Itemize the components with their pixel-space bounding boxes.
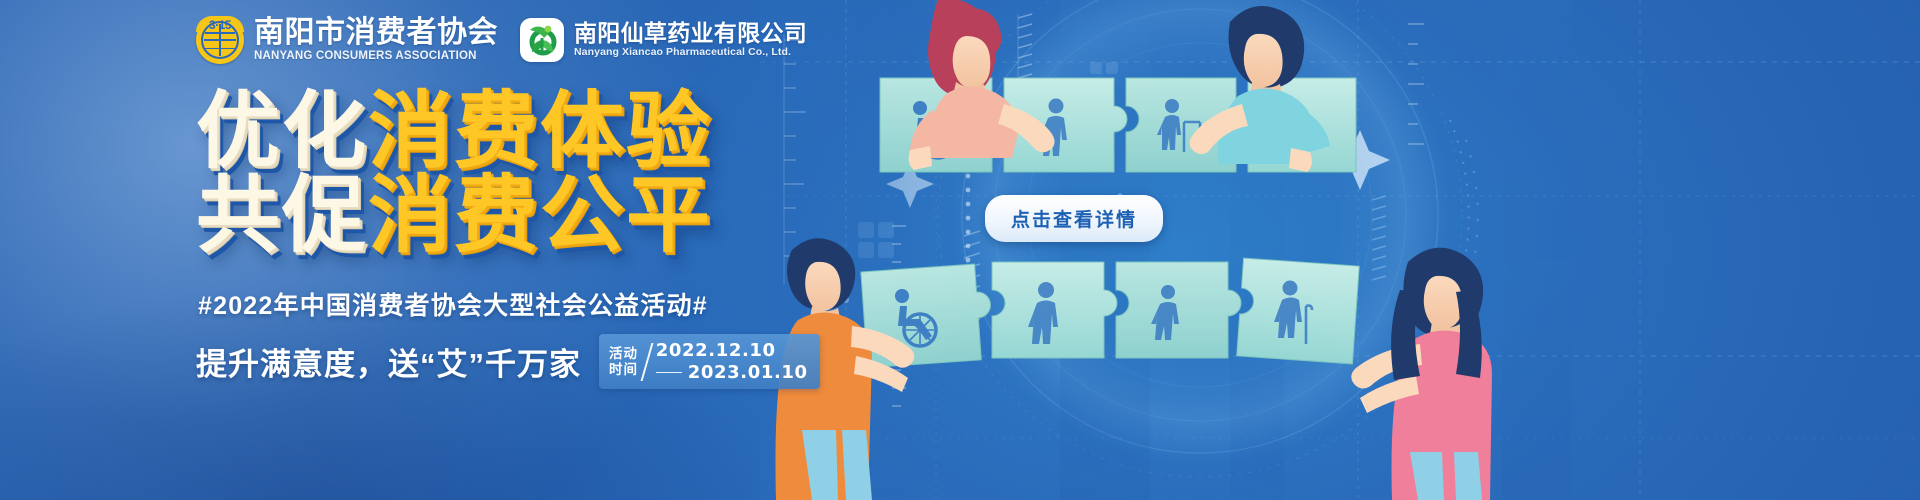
logo-row: 3·15 南阳市消费者协会 NANYANG CONSUMERS ASSOCIAT… [196,16,807,64]
headline-line-1: 优化消费体验 [196,88,712,174]
headline-line2-gold: 消费公平 [368,166,712,264]
date-slash-divider [641,343,654,381]
woman-pink-shirt-bottom-right [1351,248,1492,500]
date-rule [656,372,682,374]
puzzle-illustration-scene [760,0,1920,500]
logo2-cn-name: 南阳仙草药业有限公司 [574,21,807,46]
event-date-label: 活动 时间 [609,346,638,378]
promo-banner: 点击查看详情 3·15 南阳市消费者协会 NANYANG CONSUMERS A… [0,0,1920,500]
xiancao-leaf-logo-icon [520,18,564,62]
left-content-column: 3·15 南阳市消费者协会 NANYANG CONSUMERS ASSOCIAT… [0,0,770,500]
headline-line-2: 共促消费公平 [196,172,712,258]
event-date-block: 活动 时间 2022.12.10 2023.01.10 [599,334,820,389]
view-details-button[interactable]: 点击查看详情 [985,195,1163,242]
logo-en-name: NANYANG CONSUMERS ASSOCIATION [254,49,498,63]
315-globe-logo-icon: 3·15 [196,16,244,64]
bottom-puzzle-row [861,258,1359,368]
event-start-date: 2022.12.10 [656,340,808,361]
event-date-label-line2: 时间 [609,362,638,378]
logo-consumers-association: 3·15 南阳市消费者协会 NANYANG CONSUMERS ASSOCIAT… [196,16,498,64]
campaign-hashtag: #2022年中国消费者协会大型社会公益活动# [198,286,708,322]
event-end-date: 2023.01.10 [688,362,808,383]
logo2-en-name: Nanyang Xiancao Pharmaceutical Co., Ltd. [574,46,807,59]
slogan-and-date-row: 提升满意度，送“艾”千万家 活动 时间 2022.12.10 2023.01.1… [196,334,820,389]
headline-line2-white: 共促 [196,166,368,264]
logo-cn-name: 南阳市消费者协会 [254,17,498,49]
campaign-slogan: 提升满意度，送“艾”千万家 [196,339,581,384]
event-date-label-line1: 活动 [609,346,638,362]
logo-xiancao-pharmaceutical: 南阳仙草药业有限公司 Nanyang Xiancao Pharmaceutica… [520,18,807,62]
headline-block: 优化消费体验 共促消费公平 [196,88,712,258]
